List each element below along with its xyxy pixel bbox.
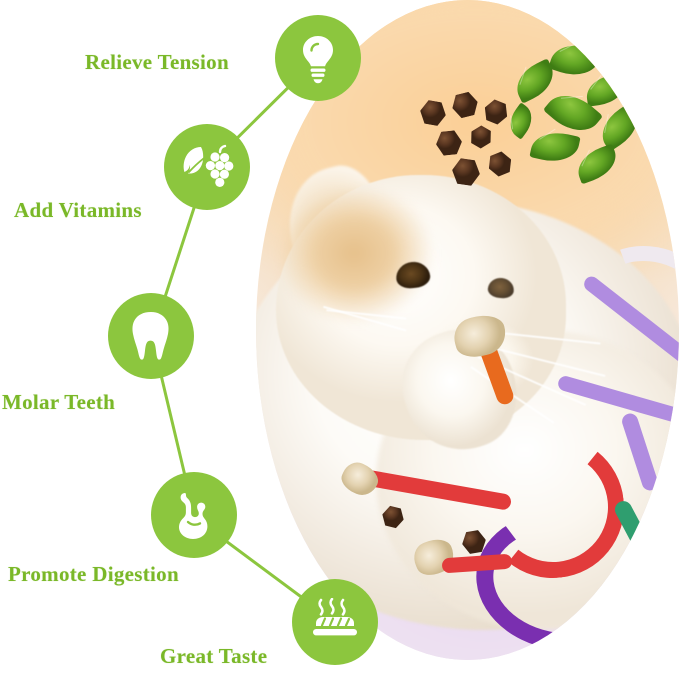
infographic-root: Relieve Tension Add Vitamins <box>0 0 679 678</box>
feature-icon-promote-digestion <box>151 472 237 558</box>
feature-label-great-taste: Great Taste <box>160 644 267 669</box>
tooth-icon <box>128 309 174 363</box>
feature-label-relieve-tension: Relieve Tension <box>85 50 229 75</box>
grapes-leaf-icon <box>179 141 235 193</box>
feature-label-molar-teeth: Molar Teeth <box>2 390 115 415</box>
lightbulb-icon <box>293 32 343 84</box>
feature-label-add-vitamins: Add Vitamins <box>14 198 142 223</box>
stomach-icon <box>168 489 220 541</box>
feature-icon-molar-teeth <box>108 293 194 379</box>
feature-icon-relieve-tension <box>275 15 361 101</box>
feature-label-promote-digestion: Promote Digestion <box>8 562 179 587</box>
steaming-food-icon <box>308 598 362 646</box>
feature-icon-great-taste <box>292 579 378 665</box>
feature-icon-add-vitamins <box>164 124 250 210</box>
